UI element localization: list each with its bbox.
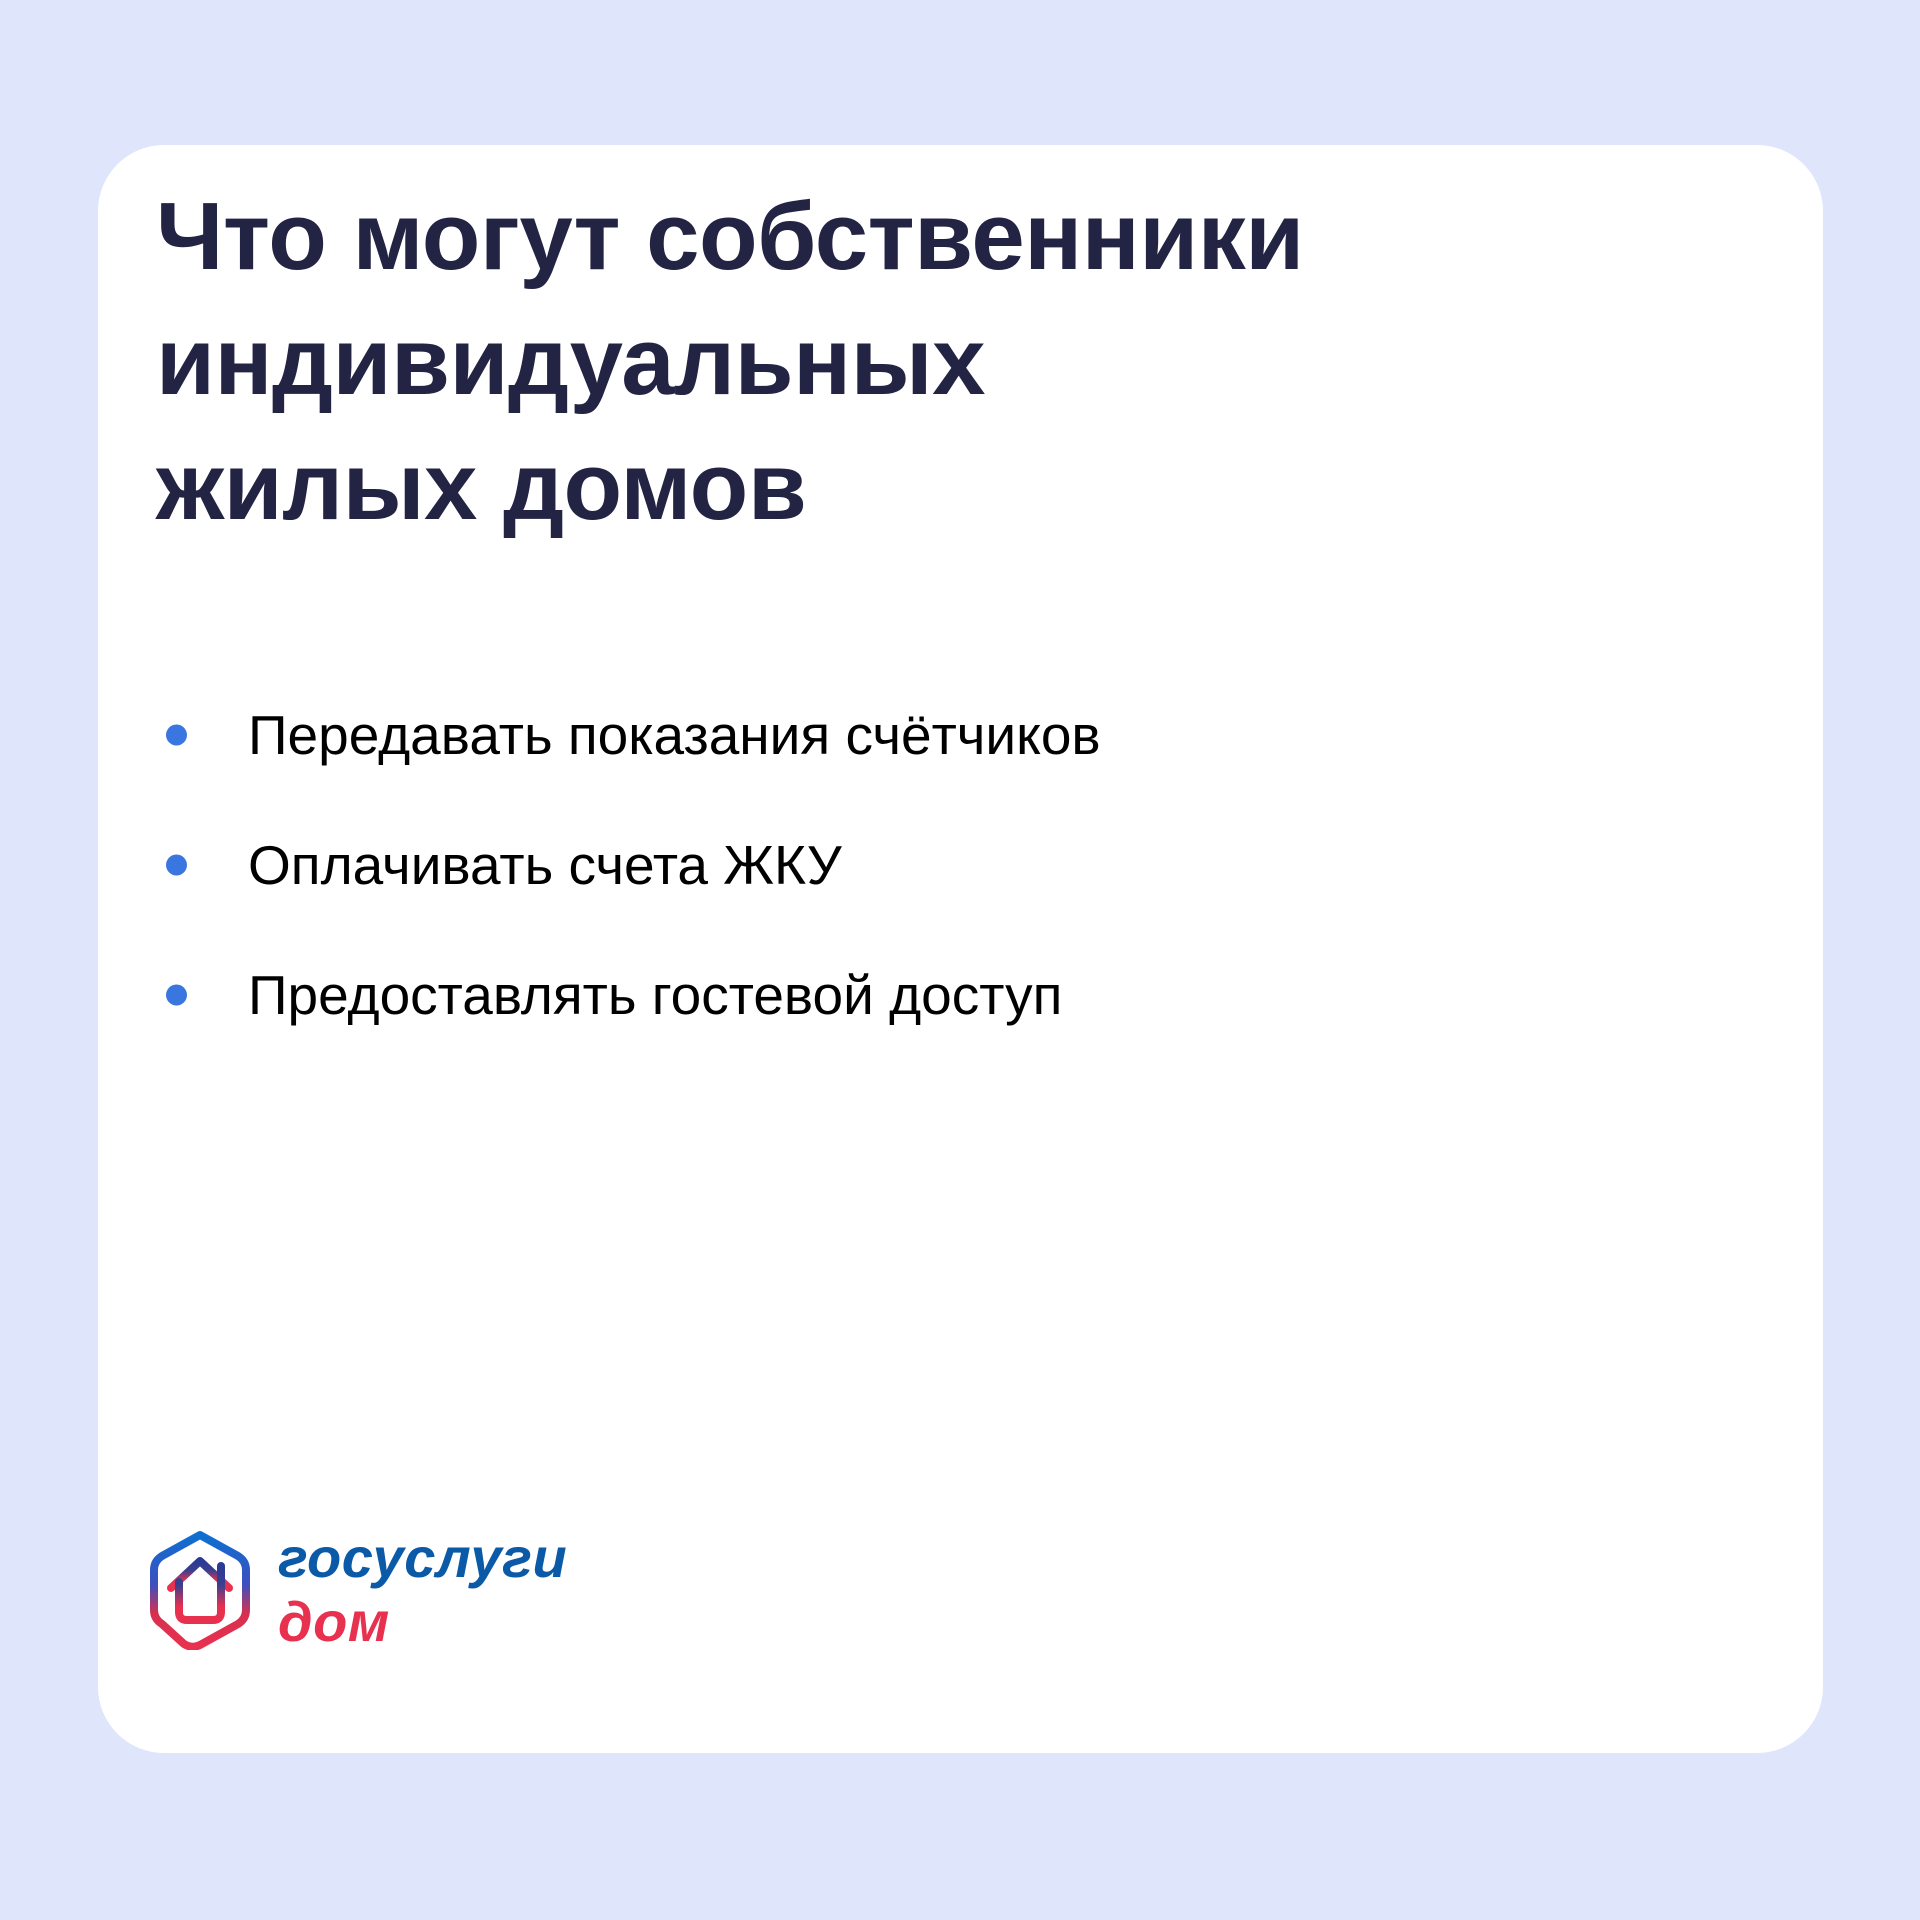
brand-wordmark: госуслуги дом bbox=[278, 1530, 567, 1650]
feature-list: Передавать показания счётчиков Оплачиват… bbox=[138, 700, 1638, 1030]
content-card: Что могут собственники индивидуальных жи… bbox=[98, 145, 1823, 1753]
title-line-2: индивидуальных bbox=[156, 300, 1556, 425]
brand-wordmark-top: госуслуги bbox=[278, 1530, 567, 1586]
list-item: Предоставлять гостевой доступ bbox=[138, 960, 1638, 1030]
list-item: Оплачивать счета ЖКУ bbox=[138, 830, 1638, 900]
list-item: Передавать показания счётчиков bbox=[138, 700, 1638, 770]
bullet-dot-icon bbox=[166, 985, 187, 1006]
brand-wordmark-bottom: дом bbox=[278, 1594, 567, 1650]
list-item-label: Оплачивать счета ЖКУ bbox=[248, 835, 842, 896]
brand-logo: госуслуги дом bbox=[146, 1530, 567, 1650]
bullet-dot-icon bbox=[166, 725, 187, 746]
list-item-label: Предоставлять гостевой доступ bbox=[248, 965, 1062, 1026]
page-title: Что могут собственники индивидуальных жи… bbox=[156, 175, 1556, 549]
gosuslugi-dom-house-hexagon-icon bbox=[146, 1530, 254, 1650]
bullet-dot-icon bbox=[166, 855, 187, 876]
list-item-label: Передавать показания счётчиков bbox=[248, 705, 1101, 766]
poster-canvas: Что могут собственники индивидуальных жи… bbox=[0, 0, 1920, 1920]
title-line-3: жилых домов bbox=[156, 425, 1556, 550]
title-line-1: Что могут собственники bbox=[156, 175, 1556, 300]
